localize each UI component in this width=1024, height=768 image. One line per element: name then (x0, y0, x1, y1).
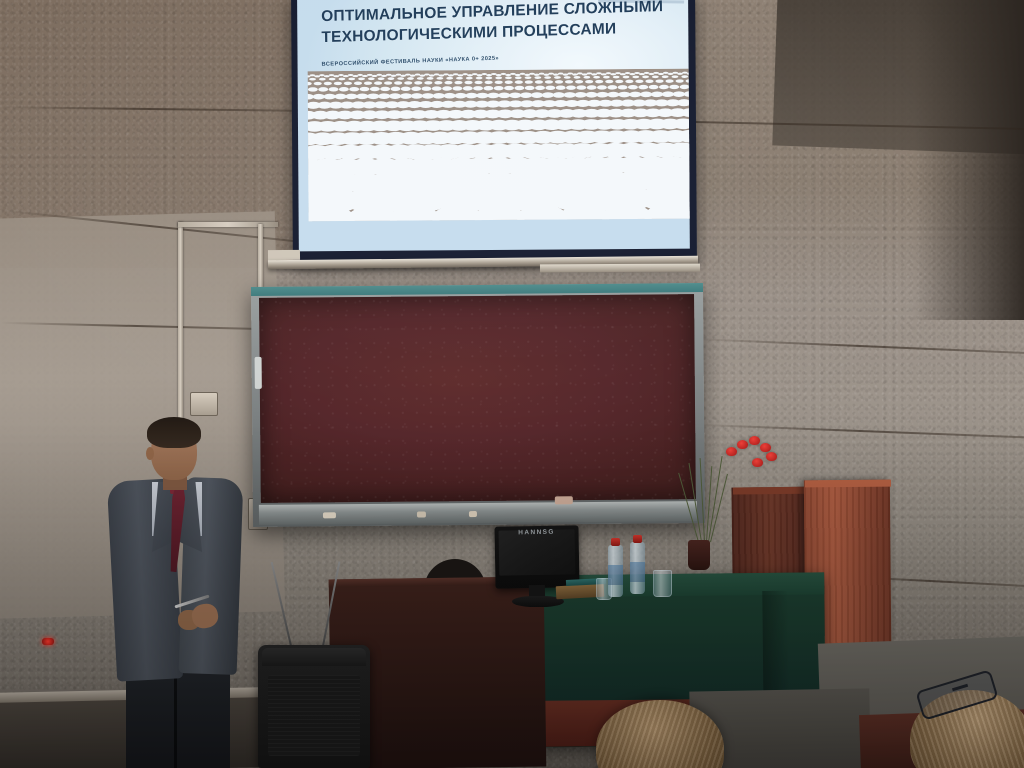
chalkboard (251, 283, 705, 527)
speaker-grill (268, 675, 360, 756)
carnation-flower (737, 440, 748, 449)
monitor-brand-label: HANNSG (495, 528, 579, 536)
wall-conduit-pipe (178, 222, 278, 227)
carnation-flower (749, 436, 760, 445)
projection-screen: ОПТИМАЛЬНОЕ УПРАВЛЕНИЕ СЛОЖНЫМИ ТЕХНОЛОГ… (291, 0, 697, 263)
water-bottle (608, 545, 623, 597)
presenter (108, 414, 268, 768)
screen-mount-rail (540, 264, 700, 273)
wall-outlet (190, 392, 218, 416)
chalk-piece (469, 511, 477, 517)
lectern-edge (805, 480, 891, 488)
lattice-graphic (308, 69, 690, 222)
presenter-ear (146, 447, 154, 460)
bottle-cap (633, 535, 642, 543)
bottle-label (608, 565, 623, 585)
bottle-label (630, 562, 645, 582)
chalk-piece (323, 512, 336, 518)
projected-slide: ОПТИМАЛЬНОЕ УПРАВЛЕНИЕ СЛОЖНЫМИ ТЕХНОЛОГ… (297, 0, 690, 251)
chalk-eraser (555, 496, 573, 504)
wall-corner-shadow (914, 0, 1024, 320)
carnation-flower (766, 452, 777, 461)
slide-title: ОПТИМАЛЬНОЕ УПРАВЛЕНИЕ СЛОЖНЫМИ ТЕХНОЛОГ… (321, 0, 671, 48)
speaker-top (262, 648, 366, 666)
chalk-piece (417, 511, 426, 517)
lecture-hall-photo: ОПТИМАЛЬНОЕ УПРАВЛЕНИЕ СЛОЖНЫМИ ТЕХНОЛОГ… (0, 0, 1024, 768)
pa-speaker (258, 645, 370, 768)
carnation-flower (760, 443, 771, 452)
chalkboard-clip (255, 357, 262, 389)
chalkboard-texture (259, 294, 696, 503)
presenter-trouser-seam (174, 672, 177, 768)
chalk-tray (259, 501, 697, 525)
bottle-cap (611, 538, 620, 546)
carnation-flower (752, 458, 763, 467)
water-bottle (630, 542, 645, 594)
flower-vase (688, 540, 710, 570)
presenter-hair (147, 417, 201, 448)
slide-subtitle: ВСЕРОССИЙСКИЙ ФЕСТИВАЛЬ НАУКИ «НАУКА 0+ … (322, 50, 652, 68)
carnation-flower (726, 447, 737, 456)
chalkboard-surface (259, 294, 696, 503)
screen-mount-tab (268, 250, 300, 260)
drinking-glass (653, 570, 672, 597)
power-led-indicator (42, 638, 54, 645)
